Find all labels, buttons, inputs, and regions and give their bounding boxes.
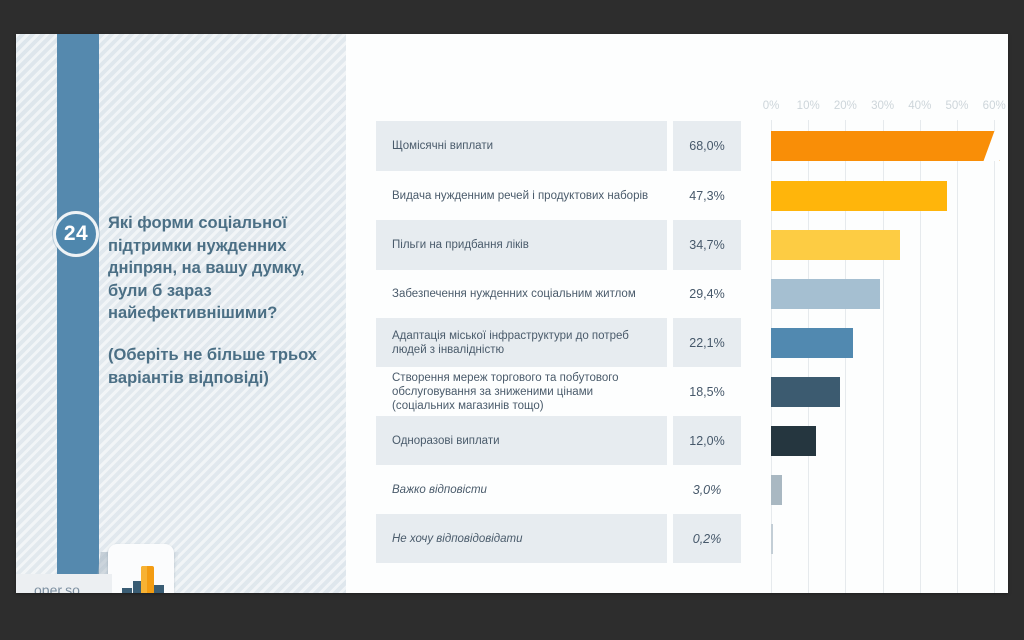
chart-bar	[771, 426, 816, 456]
row-label: Не хочу відповідовідати	[376, 514, 667, 563]
row-label: Створення мереж торгового та побутового …	[376, 367, 667, 416]
table-row: Важко відповісти3,0%	[360, 465, 1008, 514]
row-value: 68,0%	[673, 121, 741, 171]
row-label: Видача нужденним речей і продуктових наб…	[376, 171, 667, 220]
table-row: Створення мереж торгового та побутового …	[360, 367, 1008, 416]
logo-bar-1	[122, 588, 132, 593]
question-note: (Оберіть не більше трьох варіантів відпо…	[108, 344, 343, 389]
chart-rows: Щомісячні виплати68,0%Видача нужденним р…	[360, 34, 1008, 593]
chart-panel: 0%10%20%30%40%50%60% Щомісячні виплати68…	[346, 34, 1008, 593]
row-label-text: Пільги на придбання ліків	[392, 238, 529, 252]
row-value-text: 34,7%	[689, 238, 724, 252]
chart-bar	[771, 230, 900, 260]
row-value: 12,0%	[673, 416, 741, 465]
page-title: Які форми соціальної підтримки нужденних…	[108, 212, 340, 325]
row-label-text: Забезпечення нужденних соціальним житлом	[392, 287, 636, 301]
chart-area: 0%10%20%30%40%50%60% Щомісячні виплати68…	[360, 34, 1008, 593]
row-label: Адаптація міської інфраструктури до потр…	[376, 318, 667, 367]
table-row: Видача нужденним речей і продуктових наб…	[360, 171, 1008, 220]
row-label: Щомісячні виплати	[376, 121, 667, 171]
watermark: oper.so	[16, 574, 112, 593]
row-value: 34,7%	[673, 220, 741, 270]
accent-stripe	[57, 34, 99, 593]
chart-bar	[771, 131, 1000, 161]
logo-bar-3-highlight	[141, 566, 147, 593]
row-value-text: 3,0%	[693, 483, 722, 497]
chart-bar	[771, 475, 782, 505]
row-label: Пільги на придбання ліків	[376, 220, 667, 270]
table-row: Адаптація міської інфраструктури до потр…	[360, 318, 1008, 367]
row-value-text: 22,1%	[689, 336, 724, 350]
row-value: 3,0%	[673, 465, 741, 514]
row-value-text: 0,2%	[693, 532, 722, 546]
row-value: 22,1%	[673, 318, 741, 367]
chart-bar	[771, 328, 853, 358]
axis-break-marker	[983, 131, 1008, 161]
row-value-text: 18,5%	[689, 385, 724, 399]
row-label-text: Одноразові виплати	[392, 434, 500, 448]
oper-so-logo	[100, 544, 184, 593]
row-label: Забезпечення нужденних соціальним житлом	[376, 269, 667, 318]
chart-bar	[771, 377, 840, 407]
row-value: 29,4%	[673, 269, 741, 318]
row-label-text: Важко відповісти	[392, 483, 487, 497]
table-row: Забезпечення нужденних соціальним житлом…	[360, 269, 1008, 318]
chart-bar	[771, 524, 773, 554]
chart-bar	[771, 181, 947, 211]
row-value: 0,2%	[673, 514, 741, 563]
table-row: Одноразові виплати12,0%	[360, 416, 1008, 465]
left-panel: 24 Які форми соціальної підтримки нужден…	[16, 34, 346, 593]
table-row: Пільги на придбання ліків34,7%	[360, 220, 1008, 270]
row-value-text: 47,3%	[689, 189, 724, 203]
row-value: 18,5%	[673, 367, 741, 416]
row-label-text: Адаптація міської інфраструктури до потр…	[392, 329, 655, 357]
row-label: Одноразові виплати	[376, 416, 667, 465]
row-label-text: Створення мереж торгового та побутового …	[392, 371, 655, 413]
row-value: 47,3%	[673, 171, 741, 220]
logo-bar-4	[154, 585, 164, 593]
row-value-text: 12,0%	[689, 434, 724, 448]
row-value-text: 68,0%	[689, 139, 724, 153]
table-row: Не хочу відповідовідати0,2%	[360, 514, 1008, 563]
table-row: Щомісячні виплати68,0%	[360, 121, 1008, 171]
chart-bar	[771, 279, 880, 309]
question-number-badge: 24	[53, 211, 99, 257]
row-label: Важко відповісти	[376, 465, 667, 514]
row-label-text: Не хочу відповідовідати	[392, 532, 523, 546]
row-value-text: 29,4%	[689, 287, 724, 301]
row-label-text: Видача нужденним речей і продуктових наб…	[392, 189, 648, 203]
slide: 24 Які форми соціальної підтримки нужден…	[16, 34, 1008, 593]
row-label-text: Щомісячні виплати	[392, 139, 493, 153]
